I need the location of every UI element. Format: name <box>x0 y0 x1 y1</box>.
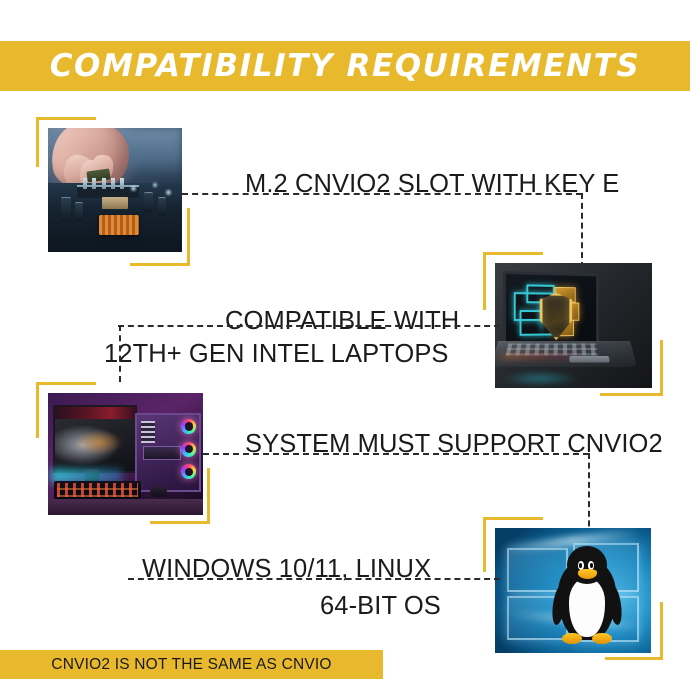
rgb-fan <box>181 442 196 457</box>
fan-hub <box>185 422 193 430</box>
page-title: COMPATIBILITY REQUIREMENTS <box>0 41 690 91</box>
heatsink-shape <box>99 215 139 235</box>
slot-pin <box>111 178 115 189</box>
compatibility-requirements-infographic: COMPATIBILITY REQUIREMENTS <box>0 0 700 700</box>
requirement-label-os-line2: 64-BIT OS <box>320 588 441 624</box>
highlight-sparkle <box>153 183 157 187</box>
connector-line-slot <box>182 193 582 195</box>
tux-head <box>567 546 606 584</box>
rgb-fan <box>181 419 196 434</box>
highlight-sparkle <box>166 190 171 195</box>
requirement-label-os-line1: WINDOWS 10/11, LINUX <box>142 551 431 587</box>
rgb-fan <box>181 464 196 479</box>
requirement-label-cpu-gen-line1: COMPATIBLE WITH <box>225 303 459 339</box>
graphics-card <box>143 446 181 460</box>
requirement-label-cpu-gen-line2: 12TH+ GEN INTEL LAPTOPS <box>104 336 449 372</box>
connector-line-cpu-gen <box>118 325 500 327</box>
cpu-socket-chip <box>102 197 129 208</box>
tux-pupil <box>579 563 582 567</box>
tux-pupil <box>590 563 593 567</box>
gaming-mouse <box>150 486 167 497</box>
capacitor <box>158 197 166 215</box>
connector-line-system-support <box>203 453 589 455</box>
capacitor <box>144 192 152 213</box>
fan-hub <box>185 468 193 476</box>
slot-pin <box>102 178 106 189</box>
header-band: COMPATIBILITY REQUIREMENTS <box>0 41 690 91</box>
linux-tux-penguin <box>554 546 620 641</box>
gaming-monitor <box>53 405 138 472</box>
capacitor <box>75 202 83 220</box>
tux-belly <box>569 578 606 637</box>
laptop-base <box>495 341 637 367</box>
slot-pin <box>120 178 124 189</box>
footer-band: CNVIO2 IS NOT THE SAME AS CNVIO <box>0 650 383 679</box>
rgb-gaming-pc-setup-photo <box>48 393 203 515</box>
rgb-keyboard <box>54 481 141 499</box>
connector-line-system-support-down <box>588 453 590 536</box>
laptop-security-shield-photo <box>495 263 652 388</box>
pc-tower <box>135 413 201 493</box>
capacitor <box>61 197 70 220</box>
floor-glow <box>501 371 580 386</box>
monitor-wallpaper <box>55 419 136 471</box>
tux-foot <box>592 633 612 644</box>
connector-line-slot-down <box>581 193 583 268</box>
keyboard-keys <box>57 483 139 496</box>
requirement-label-system-support: SYSTEM MUST SUPPORT CNVIO2 <box>245 428 663 461</box>
laptop-touchpad <box>570 355 610 362</box>
desk-surface <box>48 499 203 515</box>
requirement-label-slot: M.2 CNVIO2 SLOT WITH KEY E <box>245 168 619 201</box>
slot-pin <box>83 178 87 189</box>
windows-linux-os-photo <box>495 528 651 653</box>
tux-foot <box>562 633 582 644</box>
footer-note: CNVIO2 IS NOT THE SAME AS CNVIO <box>0 650 383 679</box>
tux-beak <box>578 569 597 579</box>
fan-hub <box>185 445 193 453</box>
connector-line-cpu-gen-down <box>119 325 121 382</box>
radiator <box>141 421 156 444</box>
motherboard-module-install-photo <box>48 128 182 252</box>
connector-line-os <box>128 578 500 580</box>
slot-pin <box>92 178 96 189</box>
laptop-keyboard <box>505 343 597 355</box>
